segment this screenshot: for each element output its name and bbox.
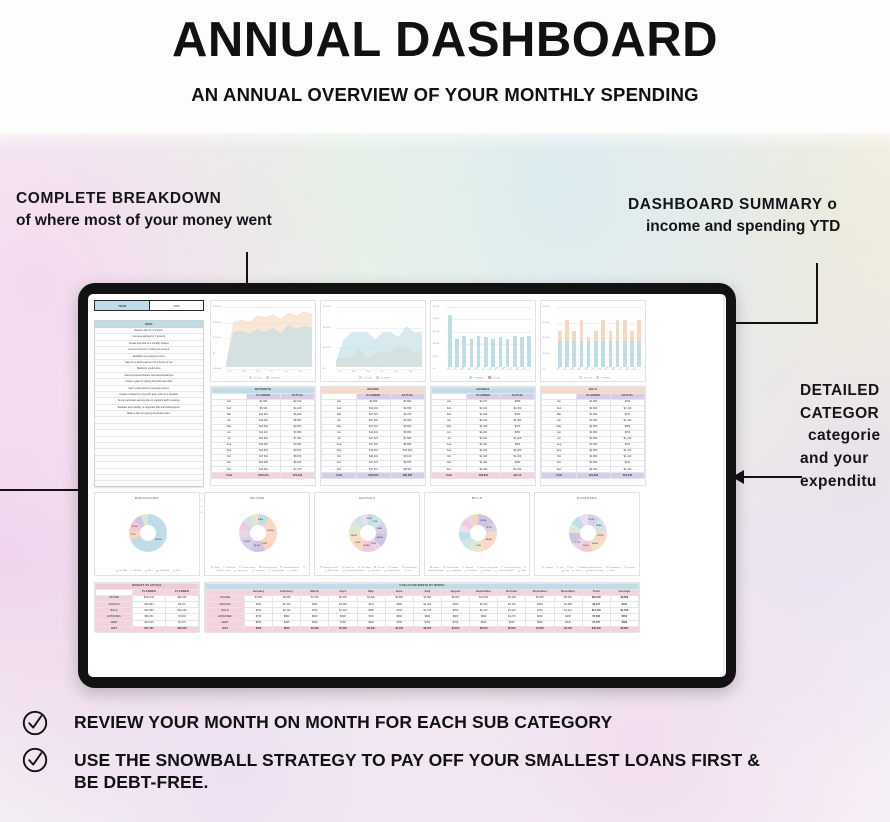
bar-series-stacked <box>558 309 641 367</box>
cashflow-cell[interactable]: $4,120 <box>554 626 582 632</box>
legend-entry: Shopping <box>539 567 553 569</box>
donut-legend: Shopping Fuel Gym Hobbies and Entertainm… <box>537 566 637 573</box>
bar <box>462 336 466 367</box>
donut-slice-label: 68.9% <box>155 539 161 541</box>
bva-row[interactable]: LEFT$17,134$46,340 <box>96 626 199 632</box>
bar-stack <box>565 309 569 367</box>
bar-actual <box>580 320 584 340</box>
y-tick-label: $1,500 <box>433 331 439 333</box>
legend-entry: Home security system <box>474 567 498 569</box>
total-label: Total <box>542 473 577 479</box>
tablet-device: YEAR 2023 GOAL Reduce debt by X amount.I… <box>78 283 736 688</box>
legend-entry: Fuel <box>553 567 563 569</box>
donut-slice-label: 20.8% <box>486 539 492 541</box>
cashflow-cell[interactable]: $3,750 <box>413 626 441 632</box>
donut-legend: Salary Side Hustle Passive Income Rent f… <box>207 566 307 573</box>
page-header: ANNUAL DASHBOARD AN ANNUAL OVERVIEW OF Y… <box>0 0 890 106</box>
bar <box>506 339 510 367</box>
checklist-item-text-0: REVIEW YOUR MONTH ON MONTH FOR EACH SUB … <box>74 712 612 734</box>
table-total-row: Total$194,011$82,650 <box>322 473 425 479</box>
bar-stack <box>616 309 620 367</box>
y-tick-label: $2,000 <box>433 318 439 320</box>
y-tick-label: $1,000 <box>433 343 439 345</box>
bar-planned <box>565 341 569 367</box>
donut-slice-label: 7.7% <box>130 534 135 536</box>
donut-title: BREAKDOWN <box>95 496 199 500</box>
legend-entry: Wedding <box>385 567 398 569</box>
legend-entry: Internet <box>427 567 439 569</box>
callout-summary-line2: income and spending YTD <box>628 216 840 238</box>
bar-stack <box>580 309 584 367</box>
donut-slice-label: 12.1% <box>597 535 603 537</box>
y-tick-label: $2,000 <box>543 337 549 339</box>
legend-entry: EXPENSES <box>153 570 169 572</box>
x-tick-label: Feb <box>564 366 568 370</box>
bar-stack <box>609 309 613 367</box>
donut-title: EXPENSES <box>535 496 639 500</box>
donut-slice-label: 6.7% <box>371 543 376 545</box>
legend-entry: Passive Income <box>236 567 255 569</box>
goal-list[interactable]: Reduce debt by X amount.Increase savings… <box>95 328 203 513</box>
callout-detailed-line1: DETAILED <box>800 380 881 403</box>
legend-entry: Salary <box>208 567 219 569</box>
year-value[interactable]: 2023 <box>150 301 203 310</box>
legend-entry: TV Subscription <box>440 567 459 569</box>
bar-stack <box>572 309 576 367</box>
page-title: ANNUAL DASHBOARD <box>0 14 890 68</box>
bar-planned <box>637 341 641 367</box>
callout-complete-breakdown: COMPLETE BREAKDOWN of where most of your… <box>16 188 272 233</box>
total-planned: $194,011 <box>357 473 391 479</box>
total-actual: $12,240 <box>611 473 645 479</box>
x-tick-label: Jul <box>489 367 492 370</box>
table-budget-vs-actual[interactable]: BUDGET VS ACTUALPLANNEDPLANNEDINCOME$194… <box>94 582 200 632</box>
legend-entry: Movies or Cinema <box>583 570 604 572</box>
checklist: REVIEW YOUR MONTH ON MONTH FOR EACH SUB … <box>22 712 882 794</box>
cashflow-cell[interactable]: $4,450 <box>301 626 329 632</box>
bar-stack <box>594 309 598 367</box>
cashflow-cell[interactable]: $4,100 <box>385 626 413 632</box>
check-circle-icon <box>22 710 48 736</box>
bar <box>455 339 459 367</box>
monthly-table[interactable]: NETWORTHPLANNEDACTUALJan$1,063$2,100Feb$… <box>211 387 315 479</box>
bar-stack <box>630 309 634 367</box>
donut-slice-label: 10.9% <box>592 543 598 545</box>
x-tick-label: Apr <box>468 367 472 371</box>
monthly-table[interactable]: BILLSPLANNEDACTUALJan$1,800$700Feb$1,800… <box>541 387 645 479</box>
x-tick-label: Mar <box>461 366 465 370</box>
donut-slice-label: 11.5% <box>582 545 588 547</box>
legend-entry: Gym <box>564 567 574 569</box>
cashflow-cell[interactable]: $4,250 <box>526 626 554 632</box>
legend-entry: Mutual funds <box>322 570 339 572</box>
cashflow-cell[interactable]: $4,100 <box>441 626 469 632</box>
bar-planned <box>601 341 605 367</box>
donut-slice-label: 26.3% <box>268 530 274 532</box>
donut-legend: Emergency Funds Tuition Fees Wish Setup … <box>317 566 417 573</box>
legend-entry: Investment Interest <box>277 567 299 569</box>
bar-planned <box>623 341 627 367</box>
bar-stack <box>558 309 562 367</box>
legend-entry: Insurance <box>621 567 635 569</box>
year-selector[interactable]: YEAR 2023 <box>94 300 204 311</box>
table-networth[interactable]: NETWORTHPLANNEDACTUALJan$1,063$2,100Feb$… <box>210 386 316 486</box>
bar <box>470 339 474 367</box>
callout-detailed-line5: expenditu <box>800 471 881 494</box>
legend-entry: HOA fees <box>478 570 492 572</box>
legend-entry: Commission <box>249 570 265 572</box>
y-tick-label: $0 <box>543 368 545 370</box>
legend-entry: Drinks <box>604 570 615 572</box>
bva-actual[interactable]: $46,340 <box>166 626 199 632</box>
donut-title: INCOME <box>205 496 309 500</box>
spreadsheet-dashboard[interactable]: YEAR 2023 GOAL Reduce debt by X amount.I… <box>88 294 726 677</box>
legend-entry: Treasury funds <box>399 567 417 569</box>
donut-slice-label: 15.0% <box>480 520 486 522</box>
donut-slice-label: 12.7% <box>254 545 260 547</box>
donut-slice-label: 12.8% <box>596 525 602 527</box>
callout-dashboard-summary: DASHBOARD SUMMARY o income and spending … <box>628 194 840 239</box>
total-planned: $150,001 <box>247 473 281 479</box>
bar-stack <box>637 309 641 367</box>
legend-entry: DEBT <box>170 570 181 572</box>
legend-entry: BILLS <box>142 570 153 572</box>
y-tick-label: $500 <box>433 356 438 358</box>
callout-detailed-line3: categorie <box>800 425 881 448</box>
donut-expenses[interactable]: EXPENSES10.2%12.8%12.1%10.9%11.5%7.7%Sho… <box>534 492 640 576</box>
donut-title: SAVINGS <box>315 496 419 500</box>
bar <box>484 337 488 367</box>
table-savings[interactable]: SAVINGSPLANNEDACTUALJan$2,247$350Feb$1,1… <box>430 386 536 486</box>
goal-header: GOAL <box>95 321 203 328</box>
total-label: Total <box>432 473 467 479</box>
cashflow-cell[interactable]: $920 <box>273 626 301 632</box>
donut-income[interactable]: INCOME9.6%26.3%8.1%12.7%12.3%Salary Side… <box>204 492 310 576</box>
cash-flow-table[interactable]: CASH FLOW MONTH BY MONTHJanuaryFebruaryM… <box>205 583 639 633</box>
table-income[interactable]: INCOMEPLANNEDACTUALJan$2,000$3,800Feb$13… <box>320 386 426 486</box>
legend-entry: Capital gains <box>231 570 248 572</box>
donut-slice-label: 10.4% <box>363 545 369 547</box>
table-bills[interactable]: BILLSPLANNEDACTUALJan$1,800$700Feb$1,800… <box>540 386 646 486</box>
bva-planned[interactable]: $17,134 <box>133 626 166 632</box>
donut-breakdown[interactable]: BREAKDOWN68.9%7.7%10.3%INCOME SAVINGS BI… <box>94 492 200 576</box>
total-actual: $75,100 <box>281 473 315 479</box>
bar-planned <box>587 341 591 367</box>
y-tick-label: $1,000 <box>543 353 549 355</box>
cashflow-cell[interactable]: $5,400 <box>329 626 357 632</box>
legend-entry: Rent from property <box>256 567 277 569</box>
monthly-table[interactable]: INCOMEPLANNEDACTUALJan$2,000$3,800Feb$13… <box>321 387 425 479</box>
area-series <box>321 301 427 383</box>
chart-networth-area[interactable]: -$10,000$0$10,000$20,000$30,000JanMarMay… <box>210 300 316 382</box>
bar-actual <box>601 320 605 340</box>
bar-series-planned <box>448 309 531 367</box>
bar-actual <box>558 331 562 341</box>
checklist-item: USE THE SNOWBALL STRATEGY TO PAY OFF YOU… <box>22 749 882 794</box>
x-tick-label: Jan <box>557 367 561 371</box>
legend-entry: Cable or satellite TV <box>492 570 515 572</box>
donut-slice-label: 8.1% <box>487 527 492 529</box>
budget-vs-actual-table[interactable]: BUDGET VS ACTUALPLANNEDPLANNEDINCOME$194… <box>95 583 199 633</box>
legend-entry: Cruise <box>401 570 412 572</box>
table-total-row: Total$150,001$75,100 <box>212 473 315 479</box>
donut-slice-label: 7.7% <box>575 542 580 544</box>
donut-slice-label: 10.2% <box>588 519 594 521</box>
donut-bills[interactable]: BILLS15.0%8.1%20.8%7.4%Internet TV Subsc… <box>424 492 530 576</box>
legend-entry: Royalty Income <box>265 570 284 572</box>
bar-actual <box>572 331 576 341</box>
bar-stack <box>601 309 605 367</box>
legend-entry: SAVINGS <box>127 570 141 572</box>
donut-savings[interactable]: SAVINGS5.9%7.9%9.8%10.9%6.7%10.4%8.5%10.… <box>314 492 420 576</box>
bar <box>527 336 531 367</box>
bar-actual <box>565 320 569 340</box>
callout-breakdown-line1: COMPLETE BREAKDOWN <box>16 188 272 210</box>
callout-summary-line1: DASHBOARD SUMMARY o <box>628 194 840 216</box>
total-planned: $21,960 <box>577 473 611 479</box>
table-cash-flow[interactable]: CASH FLOW MONTH BY MONTHJanuaryFebruaryM… <box>204 582 640 632</box>
bva-label: LEFT <box>96 626 133 632</box>
page-subtitle: AN ANNUAL OVERVIEW OF YOUR MONTHLY SPEND… <box>0 84 890 106</box>
callout-detailed-line2: CATEGOR <box>800 403 881 426</box>
donut-slice-label: 8.5% <box>355 542 360 544</box>
y-tick-label: $3,000 <box>543 322 549 324</box>
cashflow-cell[interactable]: $500 <box>244 626 272 632</box>
bar-stack <box>623 309 627 367</box>
cashflow-label: LEFT <box>206 626 245 632</box>
cashflow-cell[interactable]: $2,340 <box>357 626 385 632</box>
arrow-detailed-stem <box>744 476 802 478</box>
tablet-screen[interactable]: YEAR 2023 GOAL Reduce debt by X amount.I… <box>88 294 726 677</box>
x-tick-label: Jul <box>599 367 602 370</box>
total-actual: $9,170 <box>501 473 535 479</box>
bar-actual <box>616 320 620 340</box>
cashflow-cell[interactable]: $3,862 <box>610 626 638 632</box>
bar-planned <box>558 341 562 367</box>
legend-entry: Pet Expenses <box>603 567 620 569</box>
bar-actual <box>594 331 598 341</box>
y-tick-label: $0 <box>433 368 435 370</box>
chart-income-area[interactable]: $0$10,000$20,000$30,000JanMarMayJulSepNo… <box>320 300 426 382</box>
bar-actual <box>623 320 627 340</box>
x-tick-label: Jun <box>592 367 596 371</box>
legend-entry: Car fund <box>371 567 384 569</box>
donut-slice-label: 5.9% <box>367 518 372 520</box>
legend-entry: Tuition Fees <box>339 567 355 569</box>
total-label: Total <box>212 473 247 479</box>
bar-planned <box>609 341 613 367</box>
chart-savings-bars[interactable]: $0$500$1,000$1,500$2,000$2,500JanFebMarA… <box>430 300 536 382</box>
table-total-row: Total$26,864$9,170 <box>432 473 535 479</box>
vertical-scrollbar[interactable] <box>723 295 725 676</box>
legend-entry: Pest control <box>461 570 477 572</box>
cashflow-cell[interactable]: $5,840 <box>498 626 526 632</box>
legend-entry: Wish Setup <box>355 567 370 569</box>
monthly-table[interactable]: SAVINGSPLANNEDACTUALJan$2,247$350Feb$1,1… <box>431 387 535 479</box>
legend-entry: Landscaping <box>444 570 460 572</box>
donut-slice-label: 7.4% <box>476 545 481 547</box>
chart-legend: ACTUALPLANNED <box>541 376 645 380</box>
x-tick-label: Feb <box>454 366 458 370</box>
legend-entry: Corporate funds <box>381 570 400 572</box>
donut-slice-label: 9.8% <box>377 528 382 530</box>
donut-legend: Internet TV Subscription Electricity Hom… <box>427 566 527 573</box>
cashflow-cell[interactable]: $6,070 <box>470 626 498 632</box>
table-total-row: Total$21,960$12,240 <box>542 473 645 479</box>
callout-breakdown-line2: of where most of your money went <box>16 210 272 232</box>
year-label: YEAR <box>95 301 150 310</box>
bar <box>499 337 503 367</box>
donut-slice-label: 7.9% <box>373 521 378 523</box>
legend-entry: Hobbies and Entertainment <box>574 567 602 569</box>
bar-planned <box>630 341 634 367</box>
x-tick-label: Mar <box>571 366 575 370</box>
arrow-summary-stem-v <box>816 263 818 324</box>
x-tick-label: Apr <box>578 367 582 371</box>
cashflow-row[interactable]: LEFT$500$920$4,450$5,400$2,340$4,100$3,7… <box>206 626 639 632</box>
chart-bills-bars[interactable]: $0$1,000$2,000$3,000$4,000JanFebMarAprMa… <box>540 300 646 382</box>
chart-legend: PLANNEDACTUAL <box>431 376 535 380</box>
goal-panel[interactable]: GOAL Reduce debt by X amount.Increase sa… <box>94 320 204 487</box>
y-tick-label: $2,500 <box>433 306 439 308</box>
bar-actual <box>630 331 634 341</box>
donut-slice-label: 10.5% <box>351 535 357 537</box>
bar <box>520 337 524 367</box>
legend-entry: Food <box>559 570 569 572</box>
check-circle-icon <box>22 747 48 773</box>
bar <box>513 336 517 367</box>
legend-entry: Emergency Funds <box>317 567 338 569</box>
bar <box>448 315 452 367</box>
x-tick-label: Jan <box>447 367 451 371</box>
donut-slice-label: 10.9% <box>376 537 382 539</box>
x-tick-label: May <box>585 366 589 370</box>
total-planned: $26,864 <box>467 473 501 479</box>
legend-entry: Trash and recycling <box>498 567 520 569</box>
bar <box>491 339 495 367</box>
legend-entry: Pension <box>284 570 297 572</box>
bar-actual <box>609 331 613 341</box>
donut-slice-label: 12.3% <box>244 541 250 543</box>
total-actual: $82,650 <box>391 473 425 479</box>
background-fade <box>0 120 890 150</box>
legend-entry: Electricity <box>459 567 473 569</box>
legend-entry: Exchange-traded funds <box>339 570 364 572</box>
bar-planned <box>616 341 620 367</box>
legend-entry: Index funds <box>365 570 381 572</box>
legend-entry: INCOME <box>113 570 126 572</box>
donut-slice-label: 10.3% <box>132 526 138 528</box>
x-tick-label: May <box>475 366 479 370</box>
cashflow-cell[interactable]: $46,340 <box>582 626 610 632</box>
donut-title: BILLS <box>425 496 529 500</box>
total-label: Total <box>322 473 357 479</box>
callout-detailed-category: DETAILED CATEGOR categorie and your expe… <box>800 380 881 493</box>
legend-entry: Haircuts <box>569 570 582 572</box>
legend-entry: Water <box>515 570 526 572</box>
y-tick-label: $4,000 <box>543 306 549 308</box>
donut-slice-label: 9.6% <box>258 519 263 521</box>
bar <box>477 336 481 367</box>
bar-planned <box>594 341 598 367</box>
bar-planned <box>572 341 576 367</box>
x-tick-label: Jun <box>482 367 486 371</box>
area-series <box>211 301 317 383</box>
donut-legend: INCOME SAVINGS BILLS EXPENSES DEBT <box>97 570 197 574</box>
bar-actual <box>637 320 641 340</box>
legend-entry: Side Hustle <box>220 567 235 569</box>
donut-slice-label: 8.1% <box>262 543 267 545</box>
checklist-item-text-1: USE THE SNOWBALL STRATEGY TO PAY OFF YOU… <box>74 749 774 794</box>
bar-stack <box>587 309 591 367</box>
checklist-item: REVIEW YOUR MONTH ON MONTH FOR EACH SUB … <box>22 712 882 736</box>
bar-planned <box>580 341 584 367</box>
callout-detailed-line4: and your <box>800 448 881 471</box>
